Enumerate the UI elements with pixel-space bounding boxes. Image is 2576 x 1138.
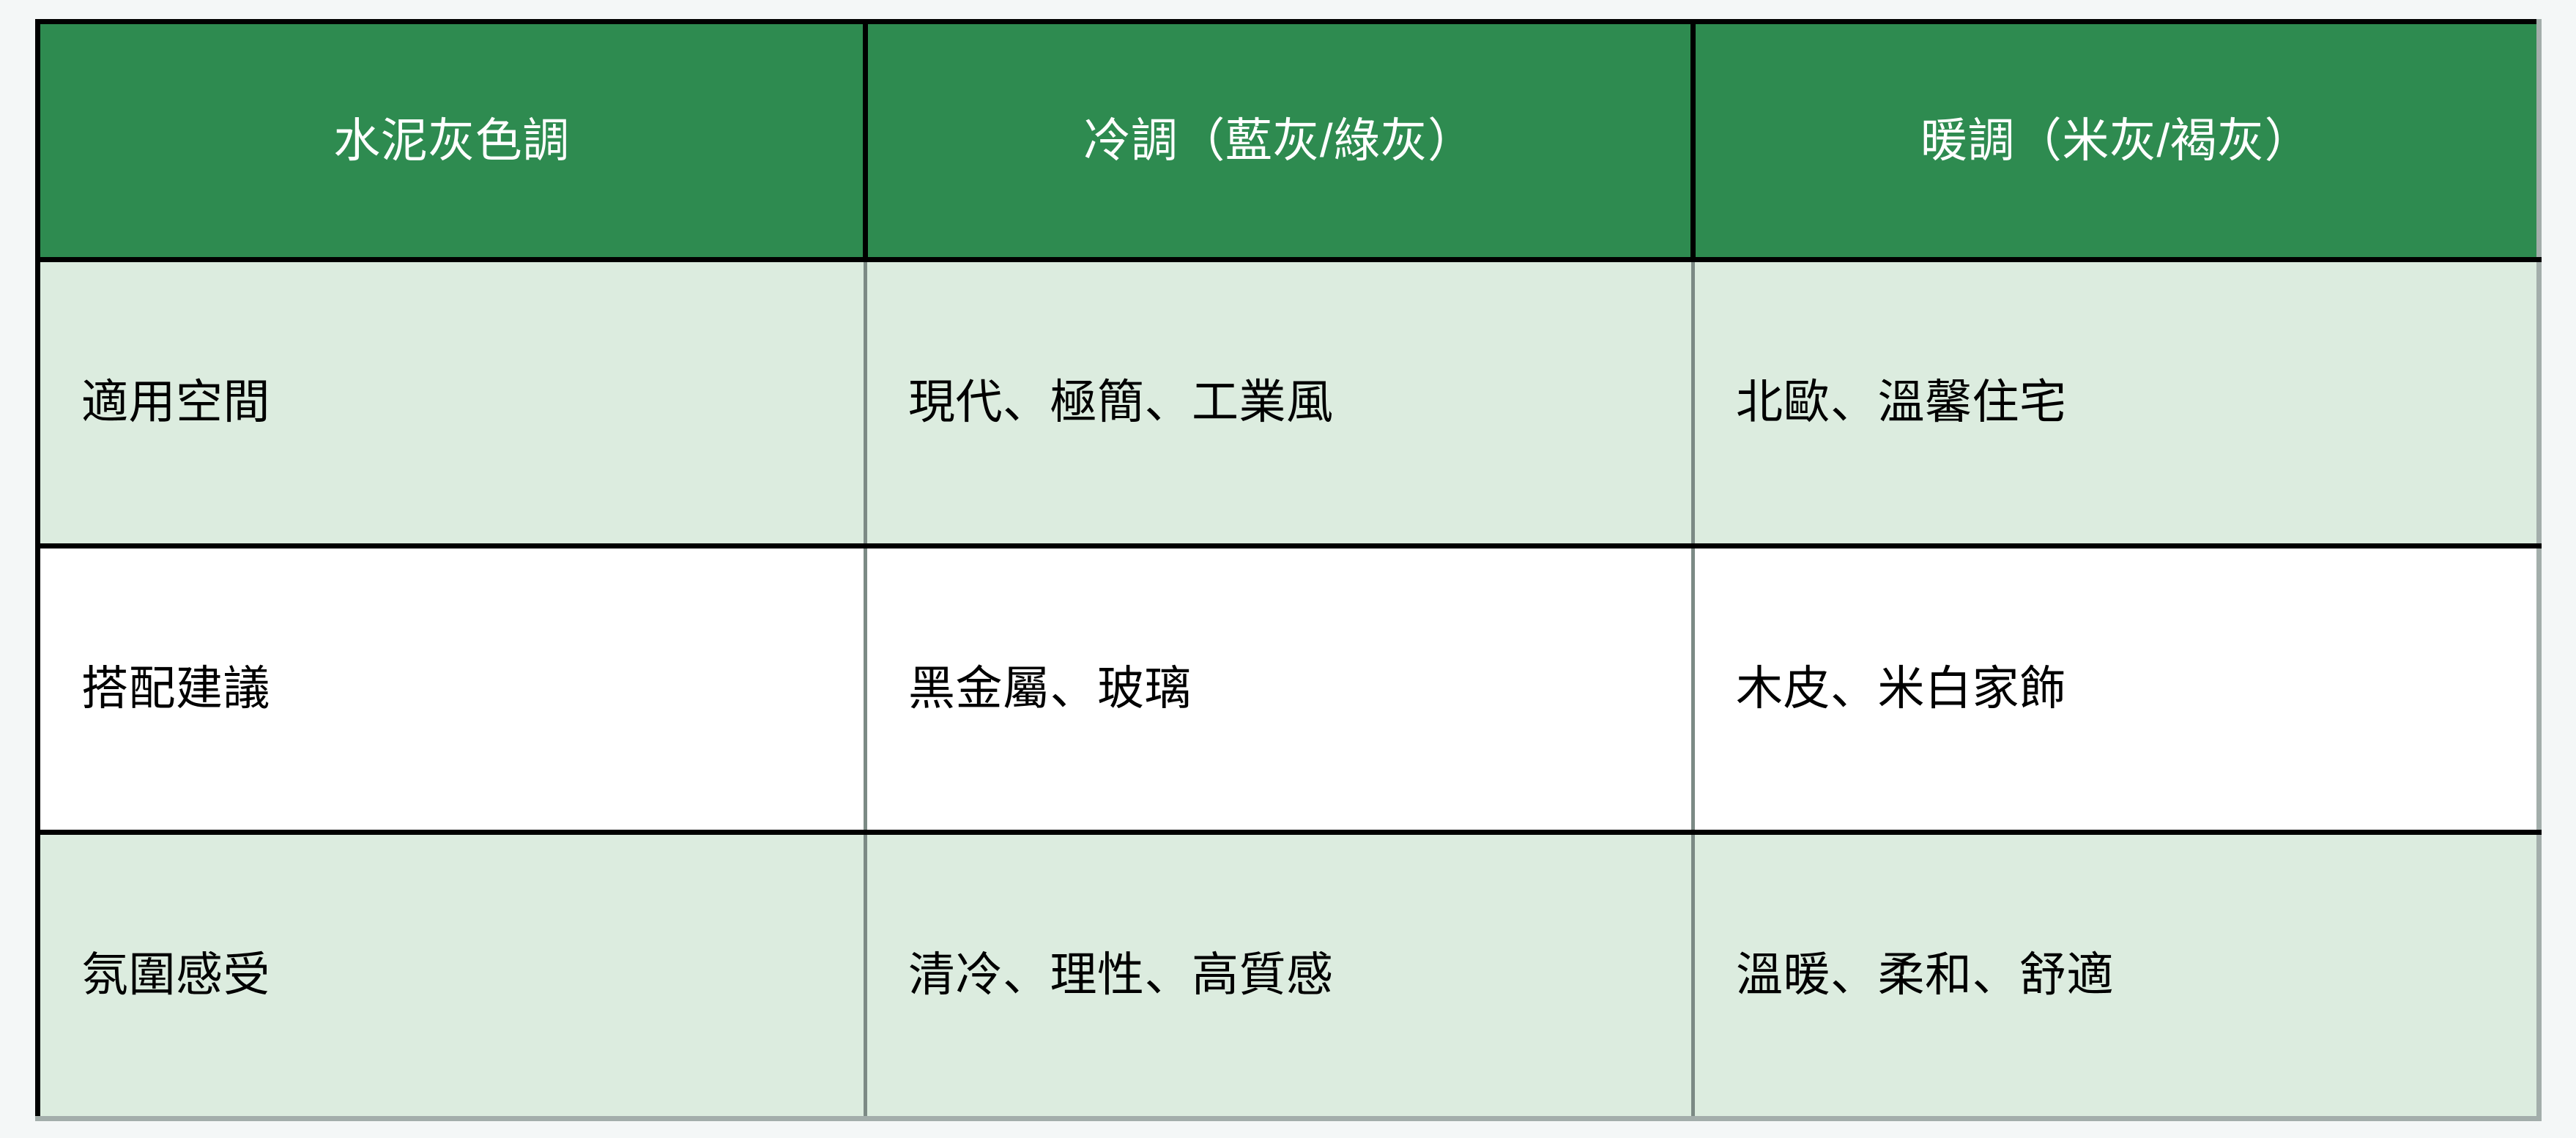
- table-row: 氛圍感受 清冷、理性、高質感 溫暖、柔和、舒適: [38, 833, 2539, 1119]
- table-row: 搭配建議 黑金屬、玻璃 木皮、米白家飾: [38, 546, 2539, 833]
- comparison-table-container: 水泥灰色調 冷調（藍灰/綠灰） 暖調（米灰/褐灰） 適用空間 現代、極簡、工業風…: [35, 19, 2542, 1117]
- cell-suitable-space-warm: 北歐、溫馨住宅: [1693, 260, 2539, 546]
- cell-pairing-suggestion-warm: 木皮、米白家飾: [1693, 546, 2539, 833]
- cell-pairing-suggestion-cool: 黑金屬、玻璃: [866, 546, 1693, 833]
- cell-atmosphere-cool: 清冷、理性、高質感: [866, 833, 1693, 1119]
- header-row: 水泥灰色調 冷調（藍灰/綠灰） 暖調（米灰/褐灰）: [38, 22, 2539, 260]
- column-header-warm-tone: 暖調（米灰/褐灰）: [1693, 22, 2539, 260]
- row-label-atmosphere: 氛圍感受: [38, 833, 866, 1119]
- cell-atmosphere-warm: 溫暖、柔和、舒適: [1693, 833, 2539, 1119]
- row-label-pairing-suggestion: 搭配建議: [38, 546, 866, 833]
- table-header: 水泥灰色調 冷調（藍灰/綠灰） 暖調（米灰/褐灰）: [38, 22, 2539, 260]
- column-header-label: 水泥灰色調: [38, 22, 866, 260]
- table-body: 適用空間 現代、極簡、工業風 北歐、溫馨住宅 搭配建議 黑金屬、玻璃 木皮、米白…: [38, 260, 2539, 1119]
- comparison-table: 水泥灰色調 冷調（藍灰/綠灰） 暖調（米灰/褐灰） 適用空間 現代、極簡、工業風…: [35, 19, 2542, 1121]
- table-row: 適用空間 現代、極簡、工業風 北歐、溫馨住宅: [38, 260, 2539, 546]
- column-header-cool-tone: 冷調（藍灰/綠灰）: [866, 22, 1693, 260]
- cell-suitable-space-cool: 現代、極簡、工業風: [866, 260, 1693, 546]
- row-label-suitable-space: 適用空間: [38, 260, 866, 546]
